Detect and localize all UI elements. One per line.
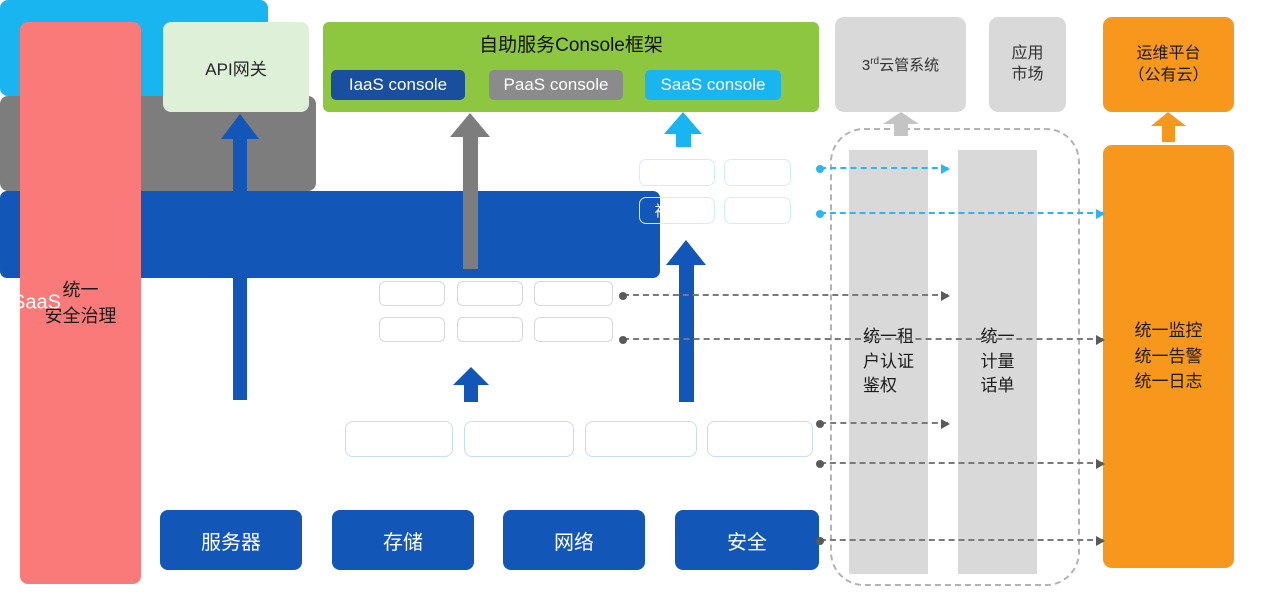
dashed-infra-to-ops (820, 462, 1103, 464)
dashed-start-dot (619, 292, 627, 300)
dashed-paas-to-ops (623, 338, 1103, 340)
shared-billing-line2: 计量 (981, 350, 1015, 375)
hardware-box-storage-label: 存储 (383, 526, 423, 555)
infra-chip-compute[interactable]: Compute (345, 421, 453, 457)
third-party-label: 3rd云管系统 (862, 54, 939, 75)
ops-unified-line3: 统一日志 (1135, 369, 1203, 395)
dashed-arrow-head (941, 164, 950, 174)
dashed-infra-to-auth (820, 422, 948, 424)
dashed-arrow-head (1096, 459, 1105, 469)
infra-chip-cce-label: CCE (739, 428, 781, 451)
paas-chip-roma[interactable]: ROMA (379, 281, 445, 306)
architecture-diagram: 统一 安全治理 API网关 自助服务Console框架 IaaS console… (0, 0, 1265, 605)
dashed-arrow-head (1096, 209, 1105, 219)
infrastructure-panel-label: 统一基础设施服务 (172, 289, 324, 316)
hardware-box-security[interactable]: 安全 (675, 510, 819, 570)
third-party-cloud-mgmt-box: 3rd云管系统 (835, 17, 966, 112)
dashed-hardware-to-ops (820, 539, 1103, 541)
shared-auth-line3: 鉴权 (863, 374, 914, 399)
ops-platform-line2: （公有云） (1128, 65, 1208, 87)
saas-panel-label: SaaS (12, 291, 61, 314)
saas-chip-iot[interactable]: IoT (724, 159, 791, 186)
infra-chip-compute-label: Compute (358, 428, 439, 451)
paas-chip-database[interactable]: 数据库 (379, 317, 445, 342)
paas-chip-bigdata[interactable]: 大数据 (534, 317, 613, 342)
app-market-line1: 应用 (1011, 44, 1043, 65)
app-market-line2: 市场 (1011, 65, 1043, 86)
saas-chip-desktop-cloud-label: 桌面云 (735, 200, 780, 221)
arrow-infra-to-paas (453, 367, 489, 402)
paas-chip-roma-label: ROMA (393, 286, 432, 301)
dashed-start-dot (619, 336, 627, 344)
dashed-arrow-head (1096, 536, 1105, 546)
dashed-arrow-head (1096, 335, 1105, 345)
dashed-arrow-head (941, 291, 950, 301)
dashed-arrow-head (941, 419, 950, 429)
saas-chip-blockchain[interactable]: 区块链 (639, 159, 715, 186)
hardware-box-server[interactable]: 服务器 (160, 510, 302, 570)
paas-chip-bigdata-label: 大数据 (554, 320, 593, 339)
third-party-suffix: 云管系统 (879, 57, 939, 74)
infra-chip-storage[interactable]: Storage (464, 421, 574, 457)
arrow-infra-to-saas (666, 240, 706, 402)
third-party-superscript: rd (870, 56, 879, 67)
paas-chip-modelarts[interactable]: ModelArts (534, 281, 613, 306)
saas-chip-desktop-cloud[interactable]: 桌面云 (724, 197, 791, 224)
infra-chip-storage-label: Storage (484, 428, 554, 451)
console-framework-title: 自助服务Console框架 (323, 30, 819, 57)
paas-console-label: PaaS console (504, 75, 609, 95)
shared-auth-line2: 户认证 (863, 350, 914, 375)
infra-chip-cce[interactable]: CCE (707, 421, 813, 457)
hardware-box-network-label: 网络 (554, 526, 594, 555)
paas-chip-database-label: 数据库 (392, 320, 431, 339)
hardware-box-server-label: 服务器 (201, 526, 261, 555)
dashed-saas-to-auth (820, 167, 948, 169)
iaas-console-chip[interactable]: IaaS console (331, 70, 465, 100)
saas-console-label: SaaS console (661, 75, 766, 95)
dashed-paas-to-auth (623, 294, 948, 296)
saas-chip-video-cloud-label: 视频云 (654, 200, 699, 221)
hardware-box-security-label: 安全 (727, 526, 767, 555)
dashed-start-dot (816, 537, 824, 545)
saas-chip-iot-label: IoT (747, 164, 769, 181)
third-party-prefix: 3 (862, 57, 870, 74)
dashed-start-dot (816, 165, 824, 173)
paas-chip-modelarts-label: ModelArts (544, 286, 603, 301)
api-gateway-label: API网关 (205, 55, 266, 80)
dashed-start-dot (816, 210, 824, 218)
app-market-box: 应用 市场 (989, 17, 1066, 112)
ops-unified-panel: 统一监控 统一告警 统一日志 (1103, 145, 1234, 568)
iaas-console-label: IaaS console (349, 75, 447, 95)
paas-console-chip[interactable]: PaaS console (489, 70, 623, 100)
dashed-saas-to-ops (820, 212, 1103, 214)
arrow-shared-to-ops-platform (1151, 112, 1186, 142)
saas-chip-video-cloud[interactable]: 视频云 (639, 197, 715, 224)
ops-unified-line2: 统一告警 (1135, 344, 1203, 370)
shared-billing-line3: 话单 (981, 374, 1015, 399)
paas-chip-dgc[interactable]: DGC (457, 281, 523, 306)
ops-platform-box: 运维平台 （公有云） (1103, 17, 1234, 112)
infra-chip-network[interactable]: Network (585, 421, 697, 457)
dashed-start-dot (816, 460, 824, 468)
paas-chip-cache[interactable]: 缓存 (457, 317, 523, 342)
hardware-box-storage[interactable]: 存储 (332, 510, 474, 570)
infra-chip-network-label: Network (604, 428, 677, 451)
ops-unified-line1: 统一监控 (1135, 318, 1203, 344)
arrow-saas-to-console (664, 112, 702, 147)
ops-platform-line1: 运维平台 (1128, 43, 1208, 65)
hardware-box-network[interactable]: 网络 (503, 510, 645, 570)
api-gateway-box: API网关 (163, 22, 309, 112)
paas-chip-cache-label: 缓存 (477, 320, 503, 339)
dashed-start-dot (816, 420, 824, 428)
paas-chip-dgc-label: DGC (476, 286, 505, 301)
saas-console-chip[interactable]: SaaS console (645, 70, 781, 100)
saas-chip-blockchain-label: 区块链 (654, 162, 699, 183)
